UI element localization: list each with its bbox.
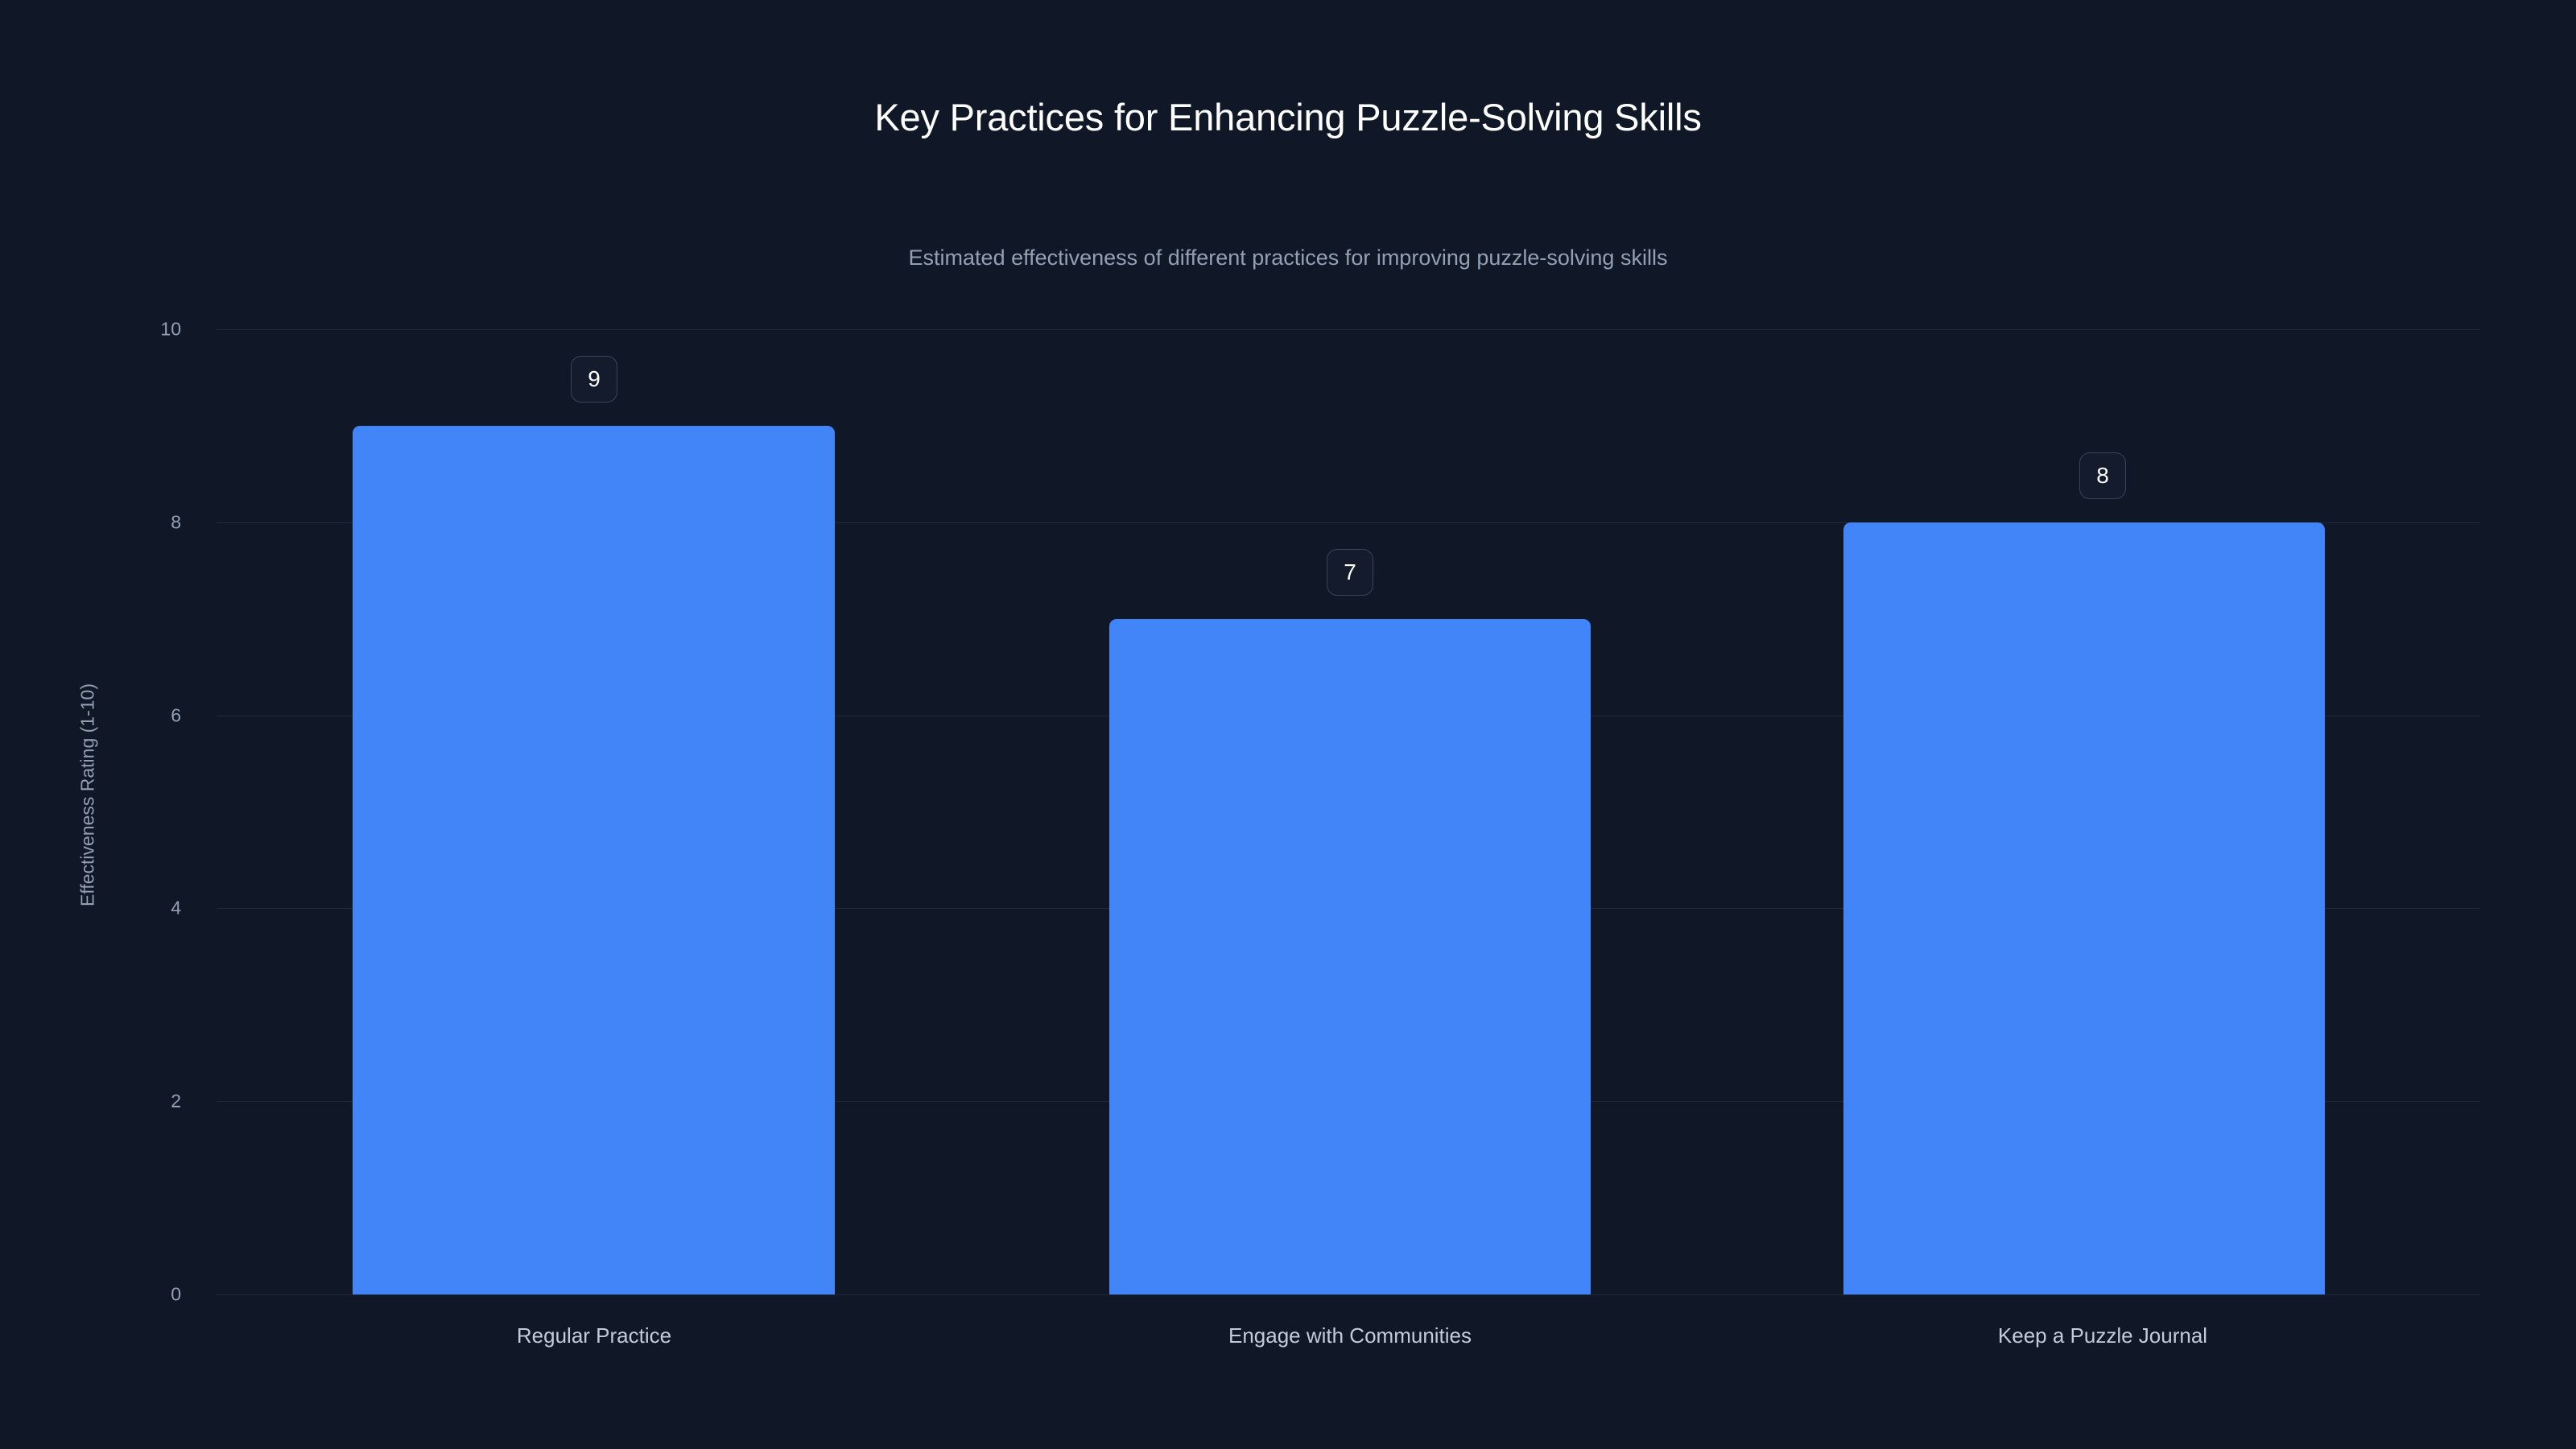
x-tick-label-engage-with-communities: Engage with Communities bbox=[1228, 1323, 1472, 1348]
x-tick-label-regular-practice: Regular Practice bbox=[517, 1323, 671, 1348]
bar-keep-a-puzzle-journal[interactable] bbox=[1843, 522, 2325, 1294]
gridline-0 bbox=[217, 1294, 2479, 1295]
y-tick-label-10: 10 bbox=[125, 319, 181, 341]
plot-area: 10 8 6 4 2 0 Effectiveness Rating (1-10)… bbox=[0, 0, 2576, 1449]
y-tick-label-8: 8 bbox=[125, 512, 181, 534]
y-tick-label-0: 0 bbox=[125, 1284, 181, 1306]
y-tick-label-4: 4 bbox=[125, 898, 181, 919]
value-badge-keep-a-puzzle-journal: 8 bbox=[2079, 452, 2126, 499]
x-tick-label-keep-a-puzzle-journal: Keep a Puzzle Journal bbox=[1998, 1323, 2207, 1348]
y-tick-label-6: 6 bbox=[125, 705, 181, 727]
value-badge-regular-practice: 9 bbox=[571, 356, 617, 402]
chart-canvas: Key Practices for Enhancing Puzzle-Solvi… bbox=[0, 0, 2576, 1449]
y-tick-label-2: 2 bbox=[125, 1091, 181, 1113]
bar-regular-practice[interactable] bbox=[353, 426, 835, 1294]
y-axis-title: Effectiveness Rating (1-10) bbox=[77, 626, 99, 964]
gridline-10 bbox=[217, 329, 2479, 330]
bar-engage-with-communities[interactable] bbox=[1109, 619, 1591, 1294]
value-badge-engage-with-communities: 7 bbox=[1327, 549, 1373, 596]
